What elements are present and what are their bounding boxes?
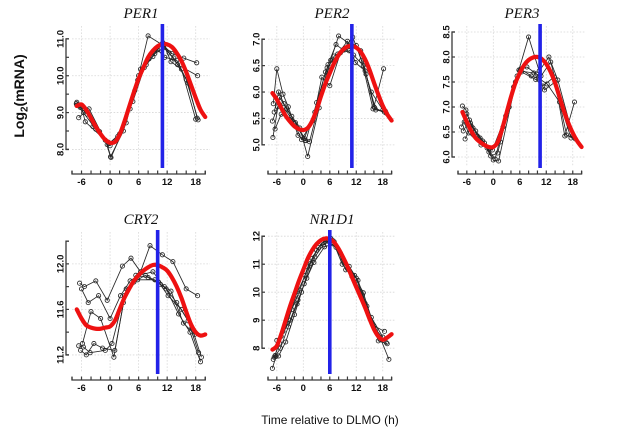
x-tick-label: 6 bbox=[136, 177, 141, 188]
y-tick-label: 12.0 bbox=[56, 255, 67, 274]
x-tick-label: 6 bbox=[327, 383, 332, 394]
circadian-gene-expression-figure: 8.09.010.011.0-6061218PER15.05.56.06.57.… bbox=[0, 0, 640, 439]
y-tick-label: 9 bbox=[252, 318, 263, 323]
y-tick-label: 6.0 bbox=[252, 85, 263, 98]
y-tick-label: 11.6 bbox=[56, 300, 67, 318]
x-tick-label: 6 bbox=[517, 177, 522, 188]
x-tick-label: 12 bbox=[162, 383, 173, 394]
y-tick-label: 7.0 bbox=[252, 33, 263, 46]
y-tick-label: 9.0 bbox=[56, 106, 67, 119]
panel-title-per2: PER2 bbox=[314, 6, 350, 22]
x-tick-label: -6 bbox=[273, 177, 281, 188]
ylabel-log: Log bbox=[11, 112, 27, 138]
panel-title-per1: PER1 bbox=[123, 6, 159, 22]
x-tick-label: 12 bbox=[351, 177, 362, 188]
x-tick-label: 0 bbox=[301, 383, 306, 394]
x-tick-label: 18 bbox=[567, 177, 578, 188]
x-tick-label: 6 bbox=[136, 383, 141, 394]
x-tick-label: 18 bbox=[190, 177, 201, 188]
y-tick-label: 6.0 bbox=[442, 150, 453, 163]
y-tick-label: 5.5 bbox=[252, 111, 263, 125]
x-tick-label: 0 bbox=[107, 177, 112, 188]
y-tick-label: 8 bbox=[252, 346, 263, 351]
panel-title-cry2: CRY2 bbox=[124, 212, 159, 228]
y-tick-label: 7.5 bbox=[442, 75, 453, 89]
ylabel-mrna: (mRNA) bbox=[11, 54, 27, 106]
x-tick-label: -6 bbox=[273, 383, 281, 394]
y-tick-label: 7.0 bbox=[442, 100, 453, 113]
y-tick-label: 8.5 bbox=[442, 25, 453, 39]
y-tick-label: 6.5 bbox=[442, 125, 453, 139]
x-tick-label: 12 bbox=[162, 177, 173, 188]
y-tick-label: 8.0 bbox=[56, 143, 67, 156]
x-tick-label: -6 bbox=[77, 383, 85, 394]
x-tick-label: 18 bbox=[377, 383, 388, 394]
y-tick-label: 12 bbox=[252, 231, 263, 242]
panel-title-nr1d1: NR1D1 bbox=[309, 212, 355, 228]
x-tick-label: 18 bbox=[377, 177, 388, 188]
y-tick-label: 11.0 bbox=[56, 30, 67, 48]
x-tick-label: 6 bbox=[327, 177, 332, 188]
x-tick-label: 0 bbox=[301, 177, 306, 188]
y-tick-label: 8.0 bbox=[442, 50, 453, 63]
x-tick-label: 12 bbox=[541, 177, 552, 188]
panel-title-per3: PER3 bbox=[504, 6, 540, 22]
y-tick-label: 5.0 bbox=[252, 138, 263, 151]
x-tick-label: -6 bbox=[463, 177, 471, 188]
y-tick-label: 10 bbox=[252, 287, 263, 298]
x-tick-label: 12 bbox=[351, 383, 362, 394]
x-tick-label: -6 bbox=[77, 177, 85, 188]
x-tick-label: 0 bbox=[107, 383, 112, 394]
y-tick-label: 11.2 bbox=[56, 346, 67, 364]
x-tick-label: 18 bbox=[190, 383, 201, 394]
y-tick-label: 11 bbox=[252, 258, 263, 269]
y-tick-label: 10.0 bbox=[56, 66, 67, 85]
y-tick-label: 6.5 bbox=[252, 58, 263, 72]
x-axis-label: Time relative to DLMO (h) bbox=[261, 413, 399, 427]
x-tick-label: 0 bbox=[491, 177, 496, 188]
